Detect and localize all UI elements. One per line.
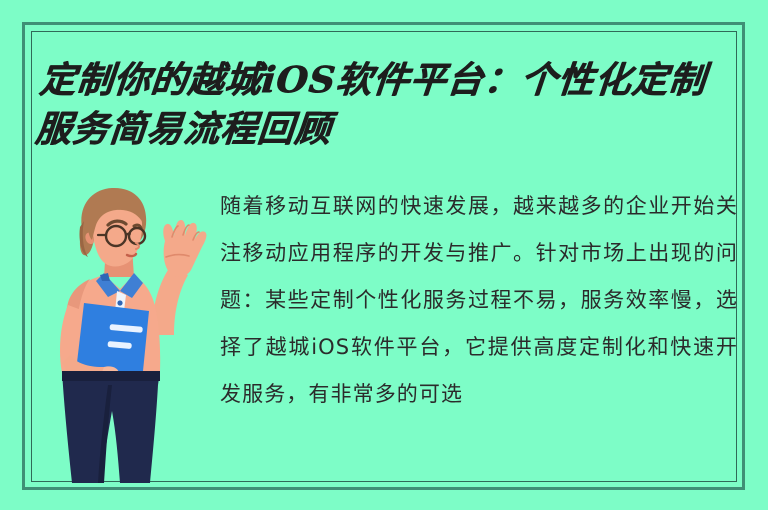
illustration-man-waving-holding-folder [48,185,238,485]
waving-arm [151,220,206,335]
article-body-text: 随着移动互联网的快速发展，越来越多的企业开始关注移动应用程序的开发与推广。针对市… [220,183,738,418]
poster-canvas: 定制你的越城iOS软件平台：个性化定制服务简易流程回顾 随着移动互联网的快速发展… [0,0,768,510]
page-title: 定制你的越城iOS软件平台：个性化定制服务简易流程回顾 [33,56,742,154]
